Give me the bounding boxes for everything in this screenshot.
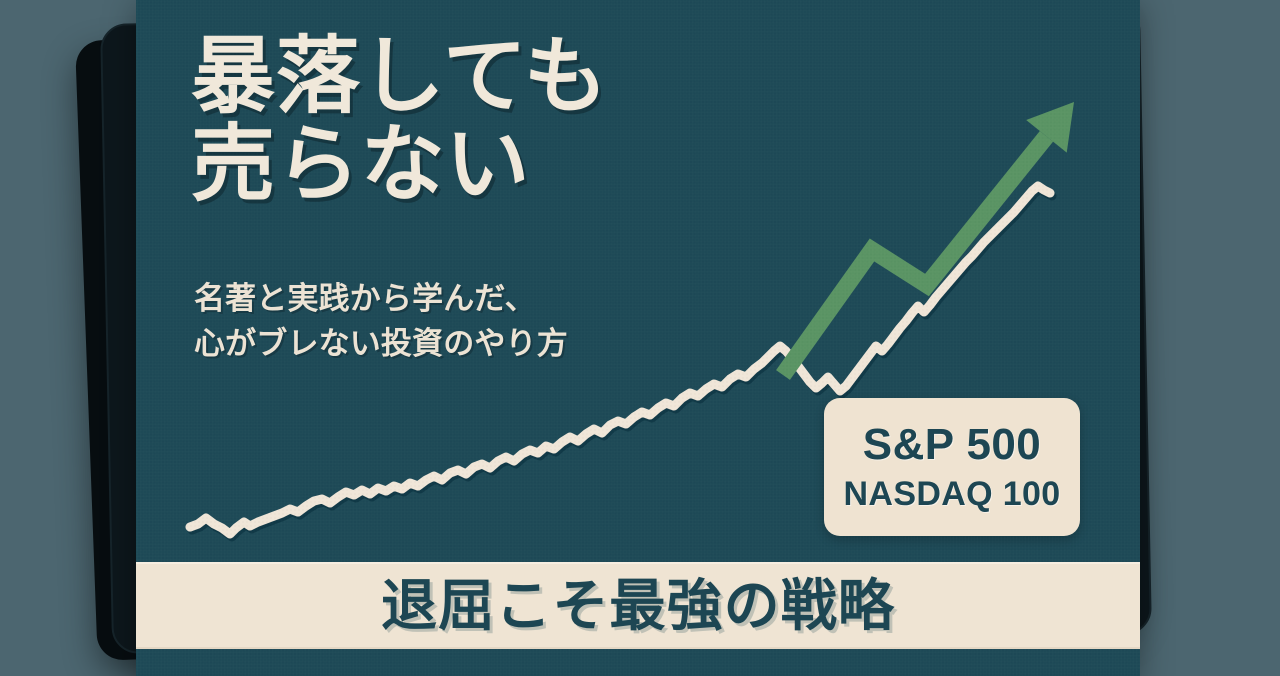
- subtitle-line-2: 心がブレない投資のやり方: [194, 321, 568, 366]
- bottom-banner: 退屈こそ最強の戦略: [136, 562, 1140, 649]
- title-line-1: 暴落しても: [191, 32, 608, 120]
- index-badge: S&P 500 NASDAQ 100: [824, 398, 1080, 536]
- book-cover-card: 暴落しても 売らない 名著と実践から学んだ、 心がブレない投資のやり方 S&P …: [136, 0, 1140, 676]
- banner-text: 退屈こそ最強の戦略: [381, 578, 895, 634]
- badge-primary-label: S&P 500: [863, 423, 1041, 467]
- cover-title: 暴落しても 売らない: [191, 32, 608, 208]
- badge-secondary-label: NASDAQ 100: [844, 477, 1061, 511]
- subtitle-line-1: 名著と実践から学んだ、: [194, 276, 568, 321]
- cover-subtitle: 名著と実践から学んだ、 心がブレない投資のやり方: [194, 276, 568, 367]
- title-line-2: 売らない: [191, 120, 608, 208]
- trend-arrow-up-icon: [783, 102, 1074, 375]
